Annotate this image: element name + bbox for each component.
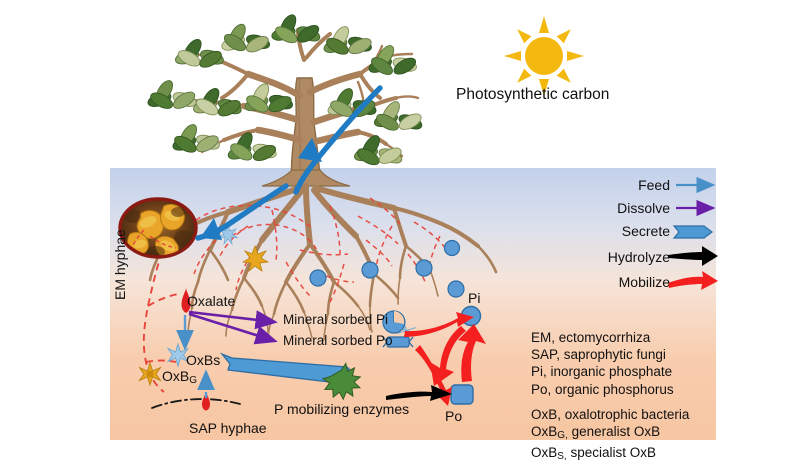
abbrev-oxbg-sub: G, — [557, 430, 568, 441]
legend-label-mobilize: Mobilize — [578, 274, 670, 290]
legend-secrete-arrow — [674, 226, 712, 238]
abbreviations-block: EM, ectomycorrhiza SAP, saprophytic fung… — [531, 329, 689, 465]
abbrev-oxbs: OxBS, specialist OxB — [531, 444, 689, 465]
abbrev-oxbg: OxBG, generalist OxB — [531, 423, 689, 444]
mineral-sorbed-po-label: Mineral sorbed Po — [283, 333, 393, 348]
oxalate-label: Oxalate — [187, 293, 235, 309]
abbrev-oxb: OxB, oxalotrophic bacteria — [531, 406, 689, 423]
legend-label-secrete: Secrete — [578, 223, 670, 239]
legend-label-dissolve: Dissolve — [578, 200, 670, 216]
abbrev-oxbs-main: OxB — [531, 445, 557, 460]
abbrev-oxbg-main: OxB — [531, 424, 557, 439]
pi-label: Pi — [468, 290, 480, 306]
oxbg-label-sub: G — [189, 375, 197, 386]
p-mobilizing-enzymes-label: P mobilizing enzymes — [274, 401, 409, 417]
figure-canvas: Photosynthetic carbon EM hyphae SAP hyph… — [0, 0, 800, 450]
legend-label-hydrolyze: Hydrolyze — [578, 249, 670, 265]
abbrev-po: Po, organic phosphorus — [531, 381, 689, 398]
em-hyphae-label: EM hyphae — [112, 229, 128, 300]
oxbs-label: OxBs — [186, 352, 220, 368]
po-label: Po — [445, 408, 462, 424]
abbrev-em: EM, ectomycorrhiza — [531, 329, 689, 346]
oxbg-label: OxBG — [162, 368, 197, 386]
abbrev-pi: Pi, inorganic phosphate — [531, 363, 689, 380]
tree-illustration — [146, 12, 424, 186]
oxbg-label-main: OxB — [162, 368, 189, 384]
abbrev-oxbs-sub: S, — [557, 451, 566, 462]
sap-hyphae-label: SAP hyphae — [189, 420, 267, 436]
abbrev-sap: SAP, saprophytic fungi — [531, 346, 689, 363]
photosynthetic-carbon-label: Photosynthetic carbon — [456, 86, 609, 104]
legend-label-feed: Feed — [578, 177, 670, 193]
mycorrhiza-inset — [120, 199, 196, 258]
abbrev-oxbs-rest: specialist OxB — [567, 445, 656, 460]
abbrev-spacer — [531, 398, 689, 406]
po-node-icon — [451, 385, 473, 404]
abbrev-oxbg-rest: generalist OxB — [568, 424, 660, 439]
mineral-sorbed-pi-label: Mineral sorbed Pi — [283, 312, 388, 327]
